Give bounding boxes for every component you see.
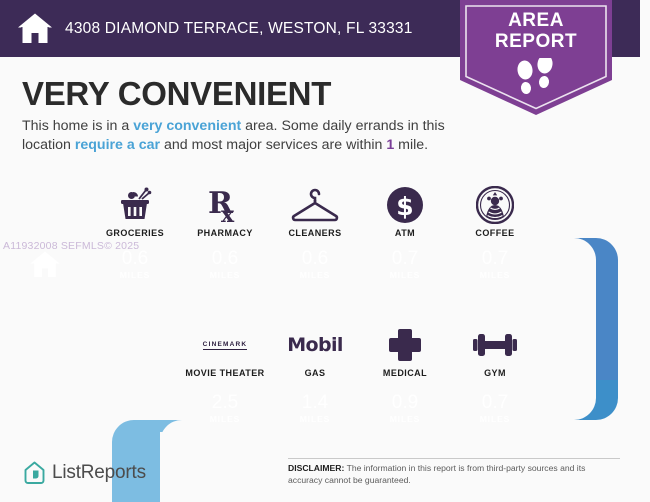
- distance-value: 0.7: [482, 249, 508, 269]
- clothes-hanger-icon: [270, 185, 360, 225]
- distance-unit: MILES: [300, 414, 330, 424]
- amenity-gym[interactable]: GYM: [450, 316, 540, 378]
- amenity-label: MEDICAL: [383, 368, 427, 378]
- amenity-pharmacy[interactable]: R x PHARMACY: [180, 176, 270, 238]
- distance-unit: MILES: [390, 270, 420, 280]
- distance-cell-medical: 0.9 MILES: [360, 382, 450, 434]
- listreports-brand-name: ListReports: [52, 462, 146, 484]
- amenity-label: GAS: [305, 368, 326, 378]
- amenity-gas[interactable]: Mobil GAS: [270, 316, 360, 378]
- distance-unit: MILES: [390, 414, 420, 424]
- distance-cell-pharmacy: 0.6 MILES: [180, 238, 270, 290]
- distance-unit: MILES: [300, 270, 330, 280]
- amenity-label: MOVIE THEATER: [185, 368, 264, 378]
- distance-unit: MILES: [480, 270, 510, 280]
- disclaimer-label: DISCLAIMER:: [288, 463, 344, 473]
- badge-line-2: REPORT: [460, 31, 612, 52]
- amenity-label: ATM: [395, 228, 415, 238]
- distance-unit: MILES: [210, 270, 240, 280]
- desc-highlight-require-car: require a car: [75, 137, 160, 153]
- distance-cell-atm: 0.7 MILES: [360, 238, 450, 290]
- disclaimer-divider: [288, 458, 620, 459]
- distance-cell-gym: 0.7 MILES: [450, 382, 540, 434]
- property-address: 4308 DIAMOND TERRACE, WESTON, FL 33331: [65, 20, 413, 38]
- distance-cell-coffee: 0.7 MILES: [450, 238, 540, 290]
- amenity-atm[interactable]: $ ATM: [360, 176, 450, 238]
- svg-text:$: $: [396, 192, 413, 221]
- badge-line-1: AREA: [460, 10, 612, 31]
- distance-value: 0.7: [392, 249, 418, 269]
- amenity-icon-row-one: GROCERIES R x PHARMACY CLEANERS: [90, 176, 540, 238]
- amenity-movie-theater[interactable]: CINEMARK MOVIE THEATER: [180, 316, 270, 378]
- distance-value: 1.4: [302, 393, 328, 413]
- amenity-label: COFFEE: [475, 228, 514, 238]
- amenity-medical[interactable]: MEDICAL: [360, 316, 450, 378]
- medical-cross-icon: [360, 325, 450, 365]
- distance-value: 0.7: [482, 393, 508, 413]
- mobil-icon: Mobil: [270, 325, 360, 365]
- desc-text-1: This home is in a: [22, 118, 133, 134]
- distance-unit: MILES: [480, 414, 510, 424]
- distance-cell-movie-theater: 2.5 MILES: [180, 382, 270, 434]
- dumbbell-icon: [450, 325, 540, 365]
- distance-value: 0.6: [302, 249, 328, 269]
- svg-text:x: x: [221, 202, 235, 224]
- mls-watermark: A11932008 SEFMLS© 2025: [3, 240, 139, 252]
- amenity-label: CLEANERS: [288, 228, 341, 238]
- area-report-badge: AREA REPORT: [460, 0, 612, 115]
- page-description: This home is in a very convenient area. …: [22, 117, 472, 155]
- distance-value: 0.6: [212, 249, 238, 269]
- badge-label: AREA REPORT: [460, 10, 612, 52]
- amenity-coffee[interactable]: COFFEE: [450, 176, 540, 238]
- mobil-wordmark: Mobil: [287, 334, 343, 356]
- disclaimer-text: DISCLAIMER: The information in this repo…: [288, 463, 618, 486]
- desc-highlight-convenient: very convenient: [133, 118, 241, 134]
- distance-cell-cleaners: 0.6 MILES: [270, 238, 360, 290]
- amenity-label: GROCERIES: [106, 228, 164, 238]
- dollar-circle-icon: $: [360, 185, 450, 225]
- desc-text-4: mile.: [394, 137, 428, 153]
- footprints-icon: [511, 58, 561, 102]
- rx-prescription-icon: R x: [180, 185, 270, 225]
- distance-unit: MILES: [120, 270, 150, 280]
- distance-value: 0.9: [392, 393, 418, 413]
- area-report-page: 4308 DIAMOND TERRACE, WESTON, FL 33331 A…: [0, 0, 650, 502]
- listreports-house-icon: [24, 461, 45, 485]
- cinemark-wordmark: CINEMARK: [203, 341, 248, 350]
- distance-unit: MILES: [210, 414, 240, 424]
- amenity-groceries[interactable]: GROCERIES: [90, 176, 180, 238]
- amenity-icon-row-two: CINEMARK MOVIE THEATER Mobil GAS MEDICAL: [180, 316, 540, 378]
- amenity-cleaners[interactable]: CLEANERS: [270, 176, 360, 238]
- amenity-label: PHARMACY: [197, 228, 253, 238]
- desc-text-3: and most major services are within: [160, 137, 386, 153]
- starbucks-icon: [450, 185, 540, 225]
- groceries-basket-icon: [90, 185, 180, 225]
- distance-cell-gas: 1.4 MILES: [270, 382, 360, 434]
- home-icon: [30, 251, 60, 278]
- amenity-label: GYM: [484, 368, 506, 378]
- listreports-logo[interactable]: ListReports: [24, 461, 146, 485]
- home-icon: [18, 13, 52, 44]
- cinemark-icon: CINEMARK: [180, 325, 270, 365]
- distance-value: 2.5: [212, 393, 238, 413]
- page-title: VERY CONVENIENT: [22, 75, 331, 113]
